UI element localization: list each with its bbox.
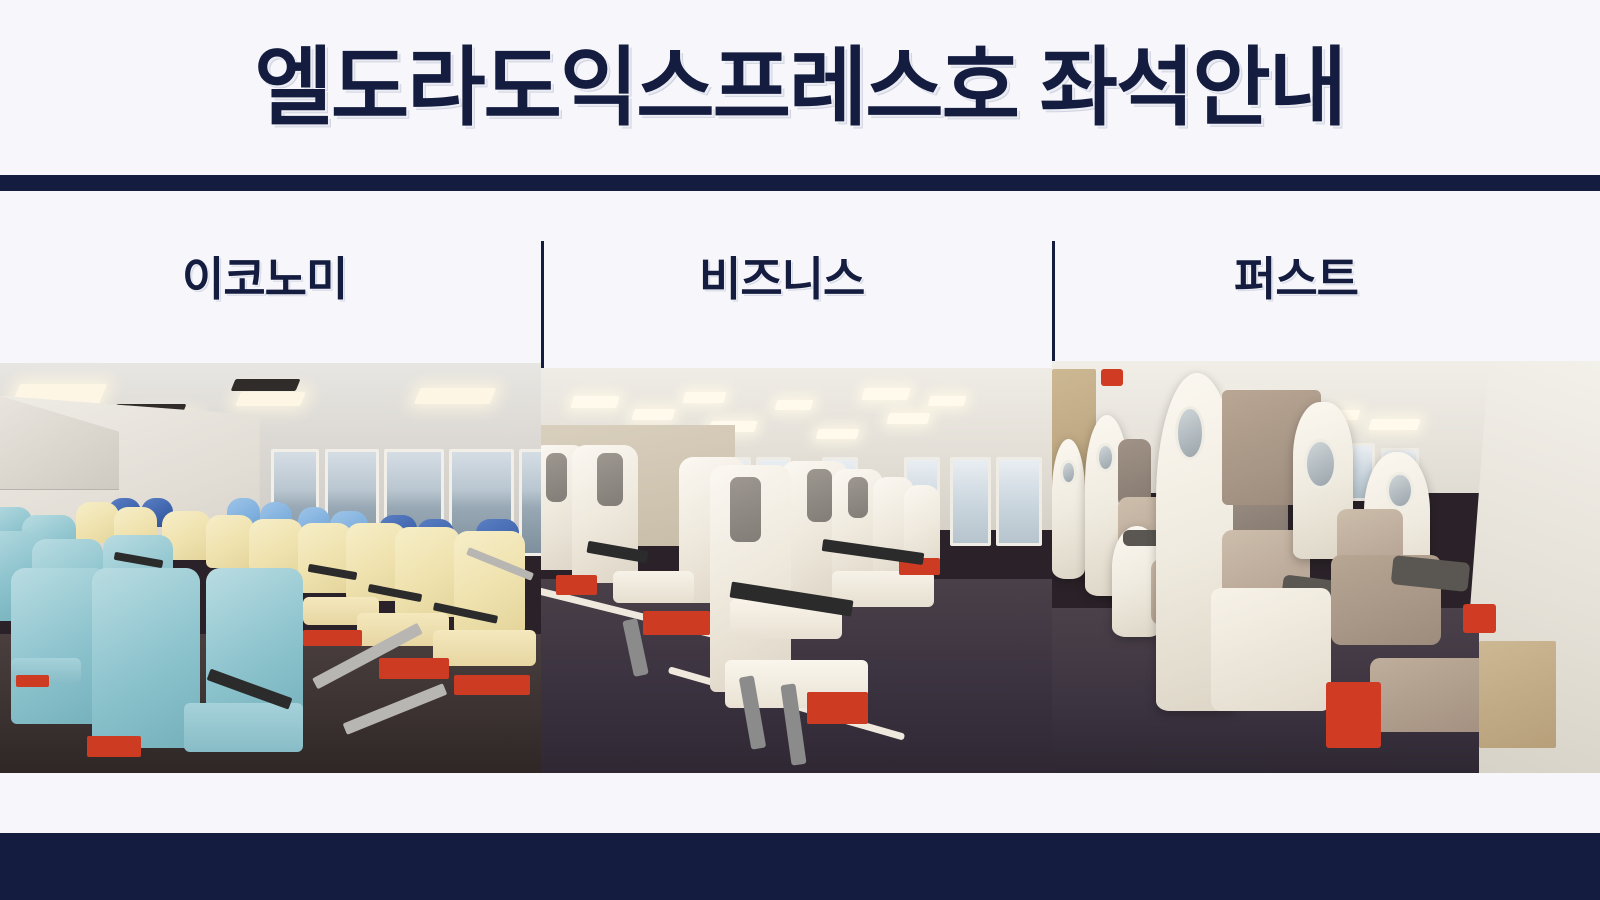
emergency-sign-icon bbox=[1101, 369, 1123, 385]
seat-cushion bbox=[184, 703, 303, 752]
pod-porthole bbox=[1304, 439, 1337, 488]
cabin-window bbox=[996, 457, 1042, 546]
footer-bar bbox=[0, 833, 1600, 900]
seat-base bbox=[807, 692, 868, 724]
seat-cushion bbox=[613, 571, 695, 603]
seat-base bbox=[643, 611, 709, 635]
panel-first[interactable]: 퍼스트 bbox=[1052, 191, 1600, 773]
ceiling-vent bbox=[230, 379, 300, 391]
pod-porthole bbox=[1386, 472, 1413, 509]
pod-seat-front bbox=[1211, 588, 1332, 712]
panel-economy[interactable]: 이코노미 bbox=[0, 191, 541, 773]
panel-label-economy: 이코노미 bbox=[0, 243, 541, 309]
ceiling-light-icon bbox=[413, 388, 495, 404]
ceiling-light-icon bbox=[631, 409, 675, 420]
seat bbox=[395, 527, 460, 617]
first-class-scene bbox=[1052, 361, 1600, 773]
slide-header: 엘도라도익스프레스호 좌석안내 bbox=[0, 0, 1600, 175]
seat bbox=[298, 523, 352, 593]
pod-porthole bbox=[1096, 443, 1115, 472]
headrest bbox=[848, 477, 868, 518]
ceiling-light-icon bbox=[887, 413, 931, 424]
ceiling-light-icon bbox=[683, 392, 727, 403]
wood-trim bbox=[1479, 641, 1556, 748]
page-title: 엘도라도익스프레스호 좌석안내 bbox=[255, 45, 1346, 131]
safety-box bbox=[1326, 682, 1381, 748]
ceiling-light-icon bbox=[928, 396, 967, 406]
seat-guide-slide: 엘도라도익스프레스호 좌석안내 이코노미 bbox=[0, 0, 1600, 900]
seat bbox=[206, 515, 255, 568]
panel-business[interactable]: 비즈니스 bbox=[541, 191, 1052, 773]
business-cabin-photo bbox=[541, 368, 1052, 773]
seat-base bbox=[16, 675, 48, 687]
safety-box bbox=[1463, 604, 1496, 633]
panel-label-business: 비즈니스 bbox=[541, 243, 1052, 309]
cabin-window bbox=[950, 457, 991, 546]
headrest bbox=[546, 453, 566, 502]
ceiling-light-icon bbox=[816, 429, 860, 439]
ceiling-light-icon bbox=[1368, 419, 1420, 430]
ceiling-light-icon bbox=[570, 396, 619, 408]
seat-base bbox=[556, 575, 597, 595]
seat-base bbox=[87, 736, 141, 757]
economy-scene bbox=[0, 363, 541, 773]
business-scene bbox=[541, 368, 1052, 773]
pod-porthole bbox=[1060, 460, 1076, 485]
economy-cabin-photo bbox=[0, 363, 541, 773]
panel-label-first: 퍼스트 bbox=[1052, 243, 1600, 309]
footer-spacer bbox=[0, 773, 1600, 833]
first-class-cabin-photo bbox=[1052, 361, 1600, 773]
ceiling-light-icon bbox=[861, 388, 910, 400]
seat-base bbox=[454, 675, 530, 696]
seat-base bbox=[303, 630, 363, 646]
headrest bbox=[730, 477, 761, 542]
headrest bbox=[597, 453, 623, 506]
header-divider-rule bbox=[0, 175, 1600, 191]
class-panels: 이코노미 bbox=[0, 191, 1600, 773]
ceiling-light-icon bbox=[235, 392, 306, 406]
ceiling-light-icon bbox=[775, 400, 814, 410]
seat-base bbox=[379, 658, 449, 679]
headrest bbox=[807, 469, 833, 522]
